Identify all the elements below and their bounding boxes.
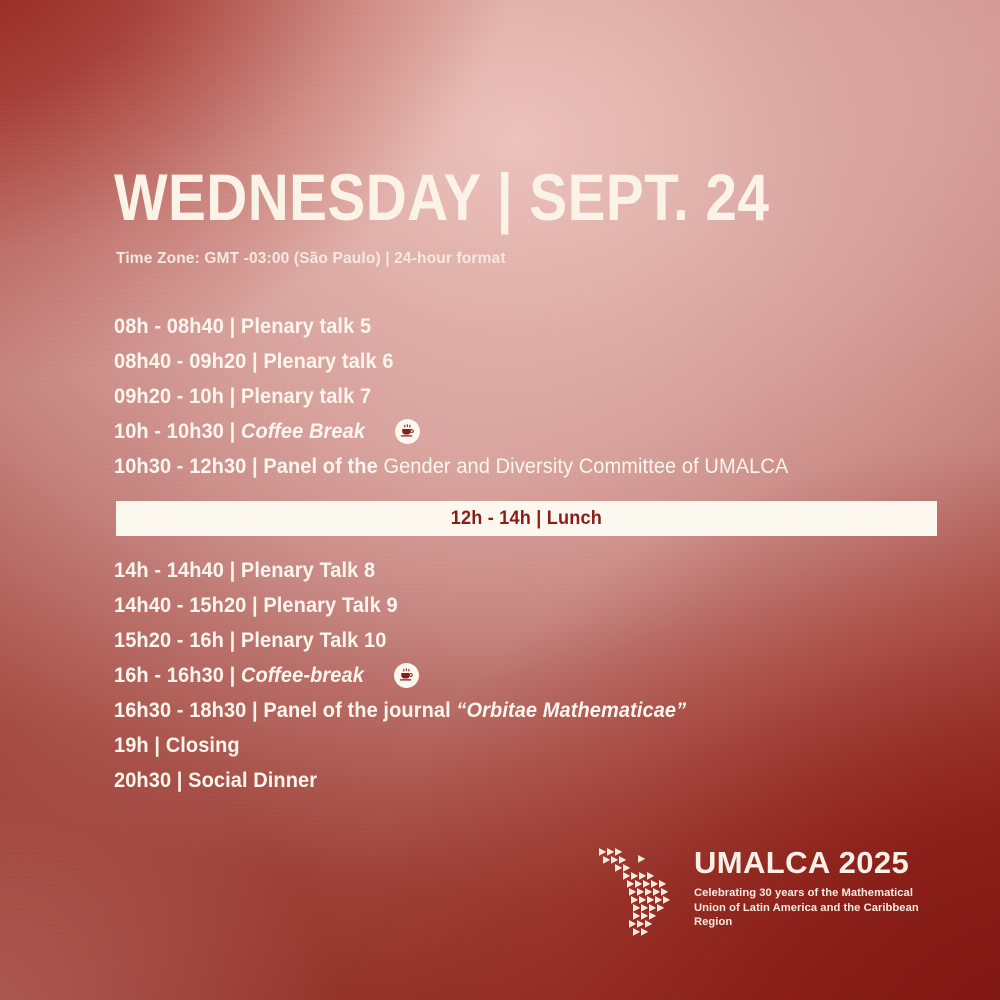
schedule-item-label: 19h | Closing [114, 733, 240, 758]
schedule-item: 08h - 08h40 | Plenary talk 5 [114, 309, 954, 344]
lunch-banner: 12h - 14h | Lunch [116, 501, 937, 536]
schedule-item-panel-gender-diversity: 10h30 - 12h30 | Panel of the Gender and … [114, 449, 954, 484]
logo-title: UMALCA 2025 [694, 846, 936, 879]
schedule-item-closing: 19h | Closing [114, 728, 954, 763]
schedule-item-emphasis: Coffee Break [241, 419, 365, 443]
schedule-morning-list: 08h - 08h40 | Plenary talk 5 08h40 - 09h… [114, 309, 954, 484]
schedule-item-coffee-break: 10h - 10h30 | Coffee Break [114, 414, 954, 449]
poster-canvas: WEDNESDAY | SEPT. 24 Time Zone: GMT -03:… [0, 0, 1000, 1000]
schedule-item-label: 08h - 08h40 | Plenary talk 5 [114, 314, 371, 339]
schedule-item: 09h20 - 10h | Plenary talk 7 [114, 379, 954, 414]
schedule-item-label: 09h20 - 10h | Plenary talk 7 [114, 384, 371, 409]
schedule-item-label: 14h - 14h40 | Plenary Talk 8 [114, 558, 375, 583]
schedule-item-label: 08h40 - 09h20 | Plenary talk 6 [114, 349, 394, 374]
schedule-item: 15h20 - 16h | Plenary Talk 10 [114, 623, 954, 658]
schedule-item-label: 15h20 - 16h | Plenary Talk 10 [114, 628, 386, 653]
schedule-item-emphasis: “Orbitae Mathematicae” [456, 698, 686, 722]
schedule-item: 14h - 14h40 | Plenary Talk 8 [114, 553, 954, 588]
schedule-item-panel-journal: 16h30 - 18h30 | Panel of the journal “Or… [114, 693, 954, 728]
umalca-logo: UMALCA 2025 Celebrating 30 years of the … [596, 842, 936, 942]
schedule-item-label: 20h30 | Social Dinner [114, 768, 317, 793]
timezone-note: Time Zone: GMT -03:00 (São Paulo) | 24-h… [116, 250, 506, 268]
logo-subtitle: Celebrating 30 years of the Mathematical… [694, 886, 926, 930]
latin-america-triangles-icon [596, 842, 682, 940]
schedule-afternoon-list: 14h - 14h40 | Plenary Talk 8 14h40 - 15h… [114, 553, 954, 798]
schedule-item-label: 10h30 - 12h30 | Panel of the Gender and … [114, 454, 788, 479]
schedule-item-label: 16h - 16h30 | Coffee-break [114, 663, 364, 688]
coffee-cup-icon [394, 663, 419, 688]
logo-text-block: UMALCA 2025 Celebrating 30 years of the … [694, 846, 936, 930]
schedule-item: 08h40 - 09h20 | Plenary talk 6 [114, 344, 954, 379]
schedule-item-label: 14h40 - 15h20 | Plenary Talk 9 [114, 593, 398, 618]
schedule-item-label: 16h30 - 18h30 | Panel of the journal “Or… [114, 698, 686, 723]
schedule-item: 14h40 - 15h20 | Plenary Talk 9 [114, 588, 954, 623]
schedule-item-emphasis: Coffee-break [241, 663, 364, 687]
page-title: WEDNESDAY | SEPT. 24 [114, 166, 769, 228]
lunch-label: 12h - 14h | Lunch [451, 507, 602, 530]
schedule-item-label: 10h - 10h30 | Coffee Break [114, 419, 365, 444]
schedule-item-social-dinner: 20h30 | Social Dinner [114, 763, 954, 798]
coffee-cup-icon [395, 419, 420, 444]
schedule-item-coffee-break: 16h - 16h30 | Coffee-break [114, 658, 954, 693]
schedule-item-secondary: Gender and Diversity Committee of UMALCA [383, 454, 788, 478]
